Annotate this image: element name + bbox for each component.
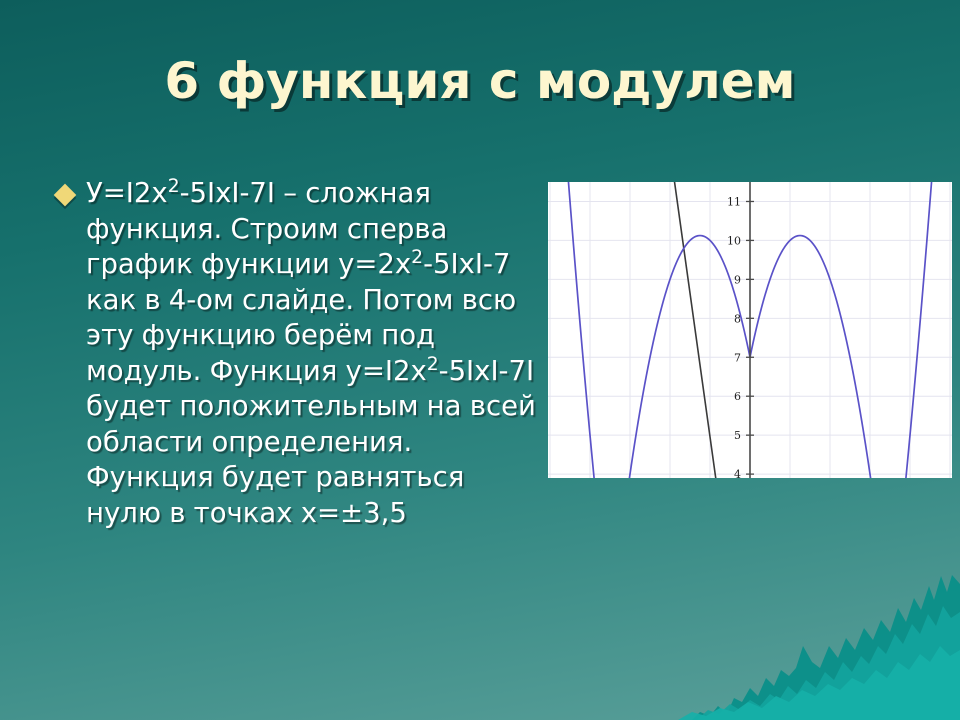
y-axis-tick-label: 10	[727, 234, 741, 247]
diamond-bullet-icon	[54, 184, 77, 207]
bullet-item: У=I2x2-5IxI-7I – сложная функция. Строим…	[57, 176, 537, 531]
y-axis-tick-label: 4	[734, 468, 741, 478]
function-graph-panel: 1110987654	[548, 182, 952, 478]
y-axis-tick-label: 9	[734, 273, 741, 286]
y-axis-tick-label: 8	[734, 312, 741, 325]
bullet-text: У=I2x2-5IxI-7I – сложная функция. Строим…	[86, 176, 537, 531]
body-content: У=I2x2-5IxI-7I – сложная функция. Строим…	[57, 176, 537, 531]
y-axis-tick-label: 6	[734, 390, 741, 403]
y-axis-tick-label: 7	[734, 351, 741, 364]
exponent: 2	[411, 247, 423, 268]
function-graph: 1110987654	[548, 182, 952, 478]
slide: 6 функция с модулем У=I2x2-5IxI-7I – сло…	[0, 0, 960, 720]
y-axis-tick-label: 11	[727, 195, 741, 208]
slide-title: 6 функция с модулем	[0, 52, 960, 110]
exponent: 2	[427, 353, 439, 374]
exponent: 2	[168, 176, 180, 197]
y-axis-tick-label: 5	[734, 429, 741, 442]
